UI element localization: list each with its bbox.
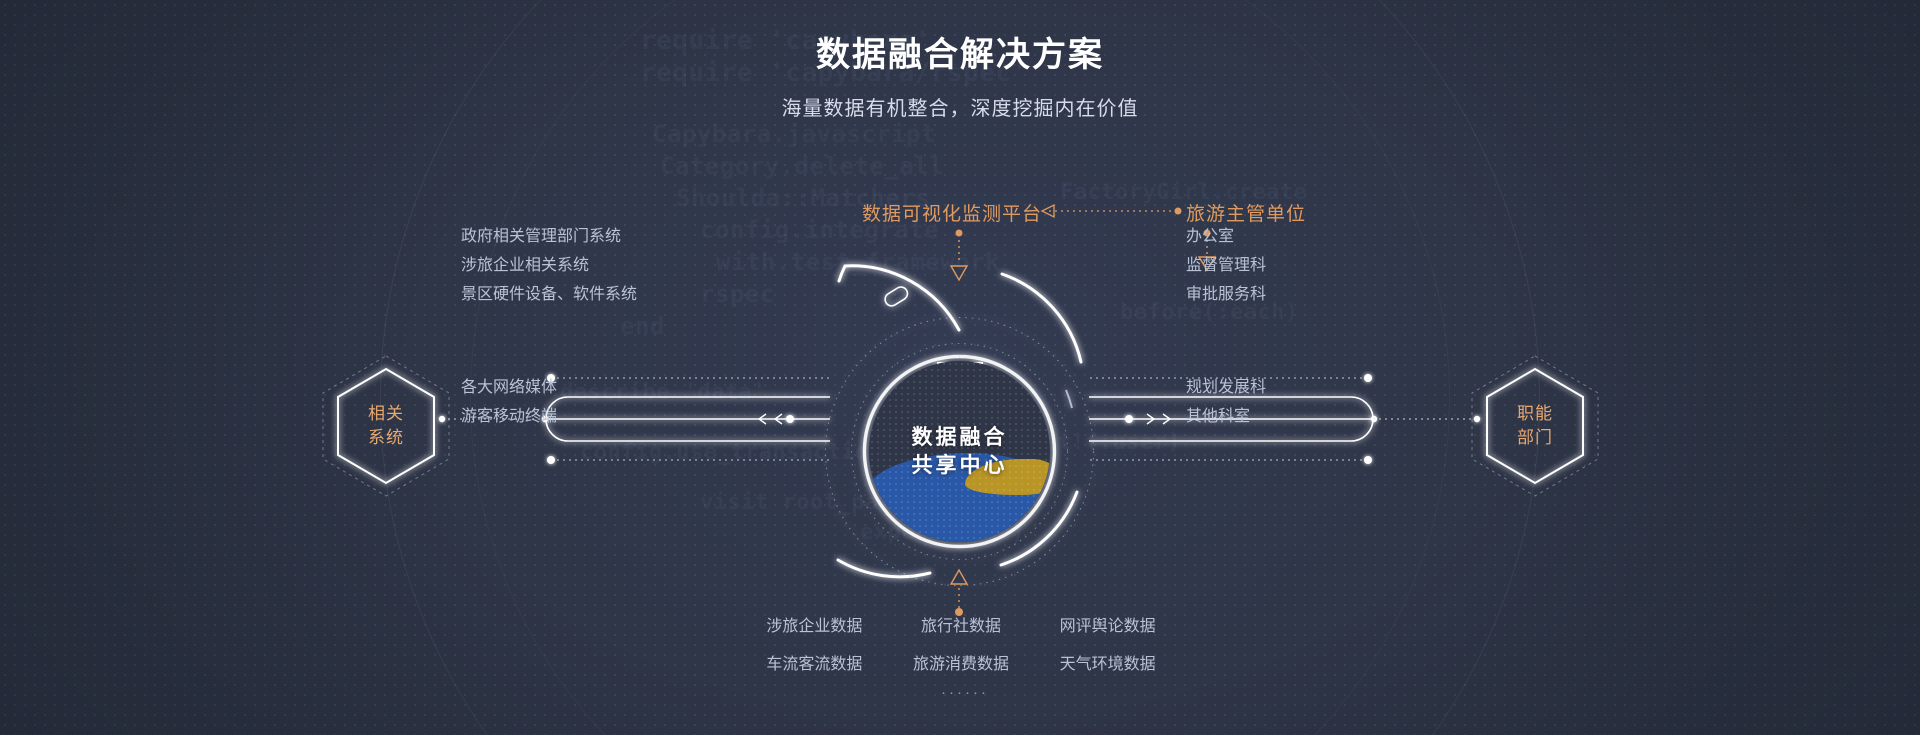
center-globe[interactable]: 数据融合 共享中心 bbox=[857, 349, 1062, 554]
bottom-data-row: 涉旅企业数据旅行社数据网评舆论数据 bbox=[741, 608, 1181, 646]
bottom-data-grid: 涉旅企业数据旅行社数据网评舆论数据车流客流数据旅游消费数据天气环境数据 bbox=[741, 608, 1181, 684]
hexagon-right-label: 职能 部门 bbox=[1479, 363, 1591, 489]
platform-connector bbox=[951, 230, 967, 281]
hexagon-left-label: 相关 系统 bbox=[330, 363, 442, 489]
bottom-data-cell: 车流客流数据 bbox=[741, 646, 888, 684]
page-header: 数据融合解决方案 海量数据有机整合，深度挖掘内在价值 bbox=[0, 32, 1920, 121]
right-top-department-item: 办公室 bbox=[1186, 222, 1266, 251]
right-bottom-department-item: 规划发展科 bbox=[1186, 373, 1266, 402]
page-subtitle: 海量数据有机整合，深度挖掘内在价值 bbox=[0, 92, 1920, 121]
bottom-data-cell: 旅行社数据 bbox=[888, 608, 1035, 646]
right-top-department-item: 审批服务科 bbox=[1186, 280, 1266, 309]
left-top-systems-list: 政府相关管理部门系统涉旅企业相关系统景区硬件设备、软件系统 bbox=[461, 222, 637, 309]
left-top-system-item: 政府相关管理部门系统 bbox=[461, 222, 637, 251]
right-top-departments-list: 办公室监督管理科审批服务科 bbox=[1186, 222, 1266, 309]
left-top-system-item: 景区硬件设备、软件系统 bbox=[461, 280, 637, 309]
bottom-data-row: 车流客流数据旅游消费数据天气环境数据 bbox=[741, 646, 1181, 684]
hexagon-right-line2: 部门 bbox=[1517, 426, 1553, 450]
right-bottom-department-item: 其他科室 bbox=[1186, 402, 1266, 431]
bottom-data-cell: 旅游消费数据 bbox=[888, 646, 1035, 684]
left-top-system-item: 涉旅企业相关系统 bbox=[461, 251, 637, 280]
bottom-data-cell: 网评舆论数据 bbox=[1034, 608, 1181, 646]
hexagon-right[interactable]: 职能 部门 bbox=[1479, 363, 1591, 489]
left-bottom-system-item: 游客移动终端 bbox=[461, 402, 557, 431]
bottom-ellipsis: ······ bbox=[941, 684, 989, 701]
globe-sphere bbox=[869, 361, 1050, 542]
hexagon-right-line1: 职能 bbox=[1517, 402, 1553, 426]
right-top-department-item: 监督管理科 bbox=[1186, 251, 1266, 280]
label-data-visualization-platform[interactable]: 数据可视化监测平台 bbox=[862, 199, 1042, 226]
platform-authority-link bbox=[1042, 205, 1182, 217]
left-bottom-systems-list: 各大网络媒体游客移动终端 bbox=[461, 373, 557, 431]
hexagon-left[interactable]: 相关 系统 bbox=[330, 363, 442, 489]
hexagon-left-line2: 系统 bbox=[368, 426, 404, 450]
right-bottom-departments-list: 规划发展科其他科室 bbox=[1186, 373, 1266, 431]
bottom-data-cell: 涉旅企业数据 bbox=[741, 608, 888, 646]
bottom-data-cell: 天气环境数据 bbox=[1034, 646, 1181, 684]
page-title: 数据融合解决方案 bbox=[0, 32, 1920, 78]
hud-capsule-marker bbox=[883, 285, 910, 309]
globe-dot-texture bbox=[869, 361, 1050, 542]
left-bottom-system-item: 各大网络媒体 bbox=[461, 373, 557, 402]
hexagon-left-line1: 相关 bbox=[368, 402, 404, 426]
